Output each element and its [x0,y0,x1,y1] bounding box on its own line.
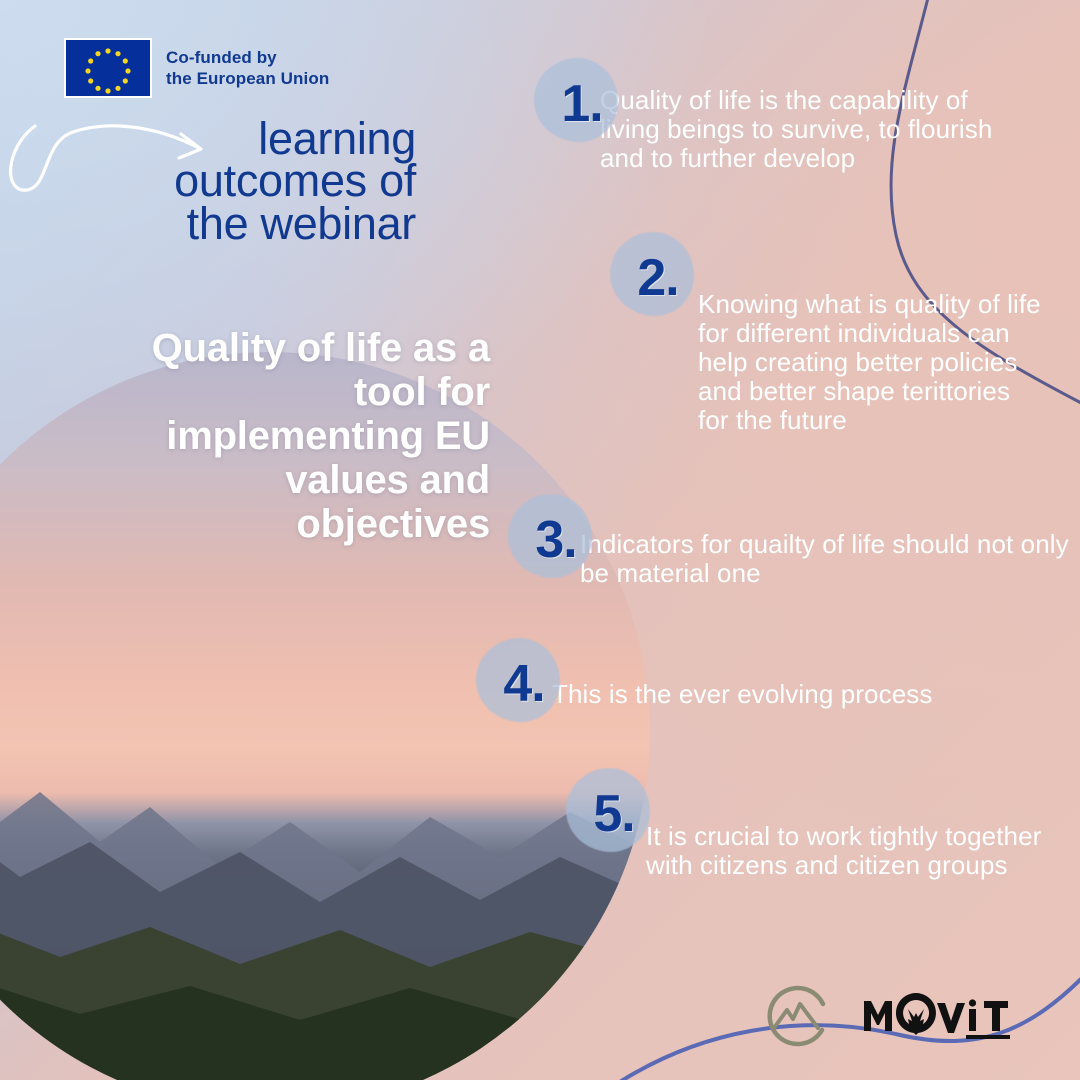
item-number: 5. [593,788,634,840]
item-text: It is crucial to work tightly together w… [646,768,1046,880]
list-item: 3. Indicators for quailty of life should… [508,494,1070,588]
item-text: Indicators for quailty of life should no… [580,494,1070,588]
heading-line-1: learning [126,118,416,160]
list-item: 5. It is crucial to work tightly togethe… [566,768,1046,880]
number-badge: 5. [566,768,650,852]
list-item: 4. This is the ever evolving process [476,638,1022,722]
list-item: 2. Knowing what is quality of life for d… [610,232,1048,436]
number-badge: 3. [508,494,592,578]
item-number: 2. [637,252,678,304]
eu-flag-icon [64,38,152,98]
item-text: Quality of life is the capability of liv… [600,58,1020,173]
poster-canvas: Co-funded by the European Union learning… [0,0,1080,1080]
title-line-5: objectives [60,502,490,546]
eu-funding-text: Co-funded by the European Union [166,47,329,90]
title-line-1: Quality of life as a [60,326,490,370]
number-badge: 4. [476,638,560,722]
page-heading: learning outcomes of the webinar [126,118,416,245]
heading-line-2: outcomes of [126,160,416,202]
eu-funding-logo: Co-funded by the European Union [64,38,329,98]
item-number: 3. [535,514,576,566]
title-line-2: tool for [60,370,490,414]
heading-line-3: the webinar [126,203,416,245]
number-badge: 2. [610,232,694,316]
item-number: 4. [503,658,544,710]
page-title: Quality of life as a tool for implementi… [60,326,490,546]
item-number: 1. [561,78,602,130]
number-badge: 1. [534,58,618,142]
footer-logos [760,982,1010,1054]
title-line-4: values and [60,458,490,502]
item-text: This is the ever evolving process [552,638,1022,709]
movit-logo [860,987,1010,1049]
list-item: 1. Quality of life is the capability of … [534,58,1020,173]
mountain-circle-logo [760,982,832,1054]
title-line-3: implementing EU [60,414,490,458]
item-text: Knowing what is quality of life for diff… [698,232,1048,436]
